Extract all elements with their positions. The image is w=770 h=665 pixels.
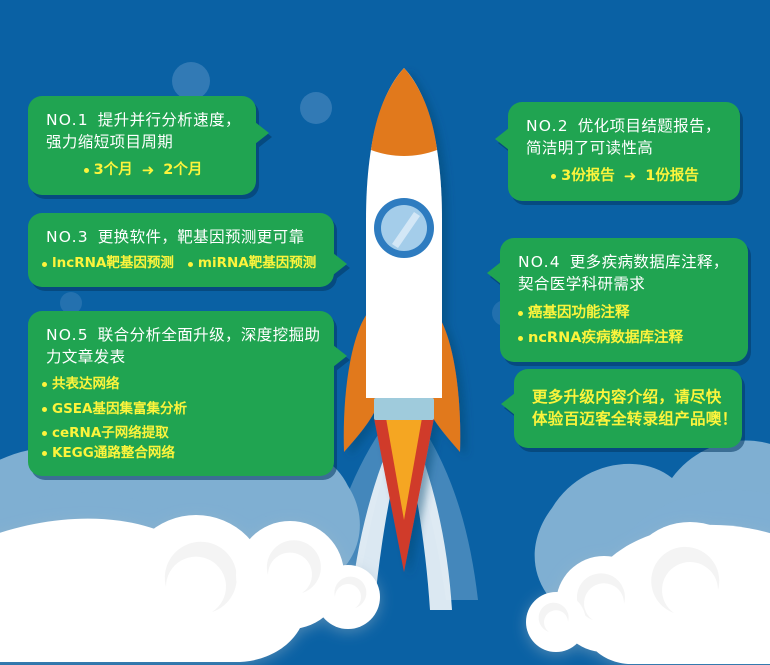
bubble-number: NO.4 [518, 253, 561, 271]
bubble-title-text: 提升并行分析速度， [98, 111, 241, 129]
feature-bubble-no4[interactable]: NO.4更多疾病数据库注释， 契合医学科研需求 癌基因功能注释 ncRNA疾病数… [500, 238, 748, 362]
bubble-item: 共表达网络 [42, 375, 192, 395]
bubble-item-label: ncRNA疾病数据库注释 [528, 328, 683, 349]
bubble-item: miRNA靶基因预测 [188, 254, 316, 274]
bubble-item: ncRNA疾病数据库注释 [518, 328, 683, 349]
promo-bubble[interactable]: 更多升级内容介绍，请尽快 体验百迈客全转录组产品噢！ [514, 369, 742, 448]
bubble-items: 癌基因功能注释 ncRNA疾病数据库注释 [518, 303, 732, 349]
bubble-item: 3份报告 [551, 166, 615, 188]
bubble-title-text: 联合分析全面升级，深度挖掘助 [98, 326, 321, 344]
bubble-tail-icon [333, 345, 347, 367]
bubble-tail-icon [495, 128, 509, 150]
rocket-nose-cone [371, 68, 437, 156]
bubble-title-text: 更多疾病数据库注释， [570, 253, 729, 271]
bullet-dot-icon [84, 168, 89, 173]
bullet-dot-icon [42, 407, 47, 412]
arrow-right-icon: ➜ [142, 160, 155, 182]
bubble-tail-icon [255, 122, 269, 144]
bubble-tail-icon [333, 253, 347, 275]
bubble-title: NO.4更多疾病数据库注释， [518, 251, 732, 273]
bubble-item: KEGG通路整合网络 [42, 444, 175, 464]
bullet-dot-icon [551, 174, 556, 179]
bubble-item-label: miRNA靶基因预测 [198, 254, 316, 274]
bubble-item-label: lncRNA靶基因预测 [52, 254, 174, 274]
bubble-item: 1份报告 [645, 166, 699, 188]
bubble-item-label: ceRNA子网络提取 [52, 424, 169, 444]
bubble-item-label: 3个月 [94, 160, 133, 181]
feature-bubble-no2[interactable]: NO.2优化项目结题报告， 简洁明了可读性高 3份报告 ➜ 1份报告 [508, 102, 740, 201]
bubble-item: ceRNA子网络提取 [42, 424, 192, 444]
bubble-items: 共表达网络 GSEA基因集富集分析 ceRNA子网络提取 KEGG通路整合网络 [42, 375, 324, 463]
bubble-item-label: 1份报告 [645, 166, 699, 187]
infographic-poster: NO.1提升并行分析速度， 强力缩短项目周期 3个月 ➜ 2个月 NO.2优化项… [0, 0, 770, 665]
bubble-title-text: 优化项目结题报告， [578, 117, 721, 135]
bubble-subtitle: 简洁明了可读性高 [526, 137, 724, 159]
rocket-nozzle [374, 398, 434, 420]
bubble-item-label: GSEA基因集富集分析 [52, 400, 187, 420]
bullet-dot-icon [42, 382, 47, 387]
bubble-item: lncRNA靶基因预测 [42, 254, 174, 274]
bubble-tail-icon [487, 262, 501, 284]
bubble-item: 癌基因功能注释 [518, 303, 630, 324]
bubble-subtitle: 强力缩短项目周期 [46, 131, 240, 153]
bullet-dot-icon [42, 262, 47, 267]
bubble-item: 2个月 [163, 160, 202, 182]
bubble-number: NO.1 [46, 111, 89, 129]
promo-line-1: 更多升级内容介绍，请尽快 [532, 386, 726, 408]
bubble-item-label: 癌基因功能注释 [528, 303, 630, 324]
bubble-subtitle: 契合医学科研需求 [518, 273, 732, 295]
bullet-dot-icon [42, 451, 47, 456]
bubble-number: NO.3 [46, 228, 89, 246]
bubble-item-label: 2个月 [163, 160, 202, 181]
bubble-item-label: KEGG通路整合网络 [52, 444, 175, 464]
bubble-title: NO.3更换软件，靶基因预测更可靠 [42, 226, 322, 248]
cloud-right [526, 440, 770, 664]
bubble-number: NO.5 [46, 326, 89, 344]
bullet-dot-icon [42, 431, 47, 436]
bubble-title: NO.5联合分析全面升级，深度挖掘助 [42, 324, 324, 346]
promo-line-2: 体验百迈客全转录组产品噢！ [532, 408, 726, 430]
bubble-number: NO.2 [526, 117, 569, 135]
feature-bubble-no3[interactable]: NO.3更换软件，靶基因预测更可靠 lncRNA靶基因预测 miRNA靶基因预测 [28, 213, 334, 287]
bullet-dot-icon [518, 336, 523, 341]
bubble-items: 3份报告 ➜ 1份报告 [526, 166, 724, 188]
bubble-title-text: 更换软件，靶基因预测更可靠 [98, 228, 305, 246]
bubble-items: 3个月 ➜ 2个月 [46, 160, 240, 182]
bubble-item-label: 3份报告 [561, 166, 615, 187]
bubble-title: NO.2优化项目结题报告， [526, 115, 724, 137]
bubble-subtitle: 力文章发表 [42, 346, 324, 368]
bubble-item-label: 共表达网络 [52, 375, 120, 395]
bullet-dot-icon [518, 311, 523, 316]
arrow-right-icon: ➜ [624, 166, 637, 188]
bubble-items: lncRNA靶基因预测 miRNA靶基因预测 [42, 254, 322, 274]
bubble-title: NO.1提升并行分析速度， [46, 109, 240, 131]
bubble-tail-icon [501, 393, 515, 415]
bullet-dot-icon [188, 262, 193, 267]
feature-bubble-no1[interactable]: NO.1提升并行分析速度， 强力缩短项目周期 3个月 ➜ 2个月 [28, 96, 256, 195]
bubble-item: GSEA基因集富集分析 [42, 400, 187, 420]
bubble-item: 3个月 [84, 160, 133, 182]
feature-bubble-no5[interactable]: NO.5联合分析全面升级，深度挖掘助 力文章发表 共表达网络 GSEA基因集富集… [28, 311, 334, 476]
